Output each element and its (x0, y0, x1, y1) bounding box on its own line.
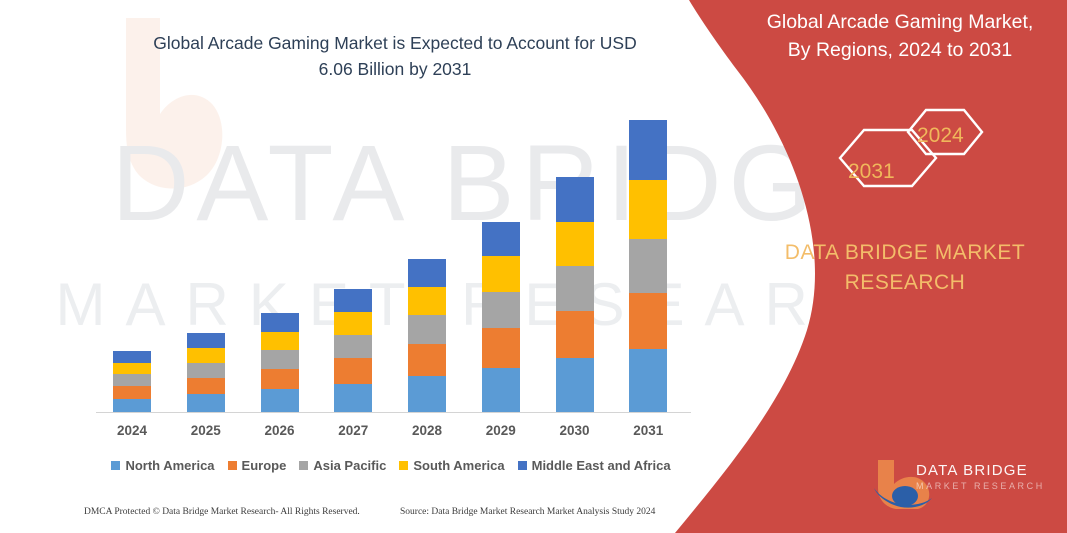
bar-segment (482, 328, 520, 368)
bar-segment (556, 222, 594, 266)
bar-segment (261, 332, 299, 350)
bar-segment (187, 378, 225, 394)
bar-segment (113, 386, 151, 399)
legend-swatch (111, 461, 120, 470)
legend-swatch (399, 461, 408, 470)
bar-segment (408, 344, 446, 376)
bar-column (317, 120, 389, 413)
bar-segment (113, 399, 151, 414)
bar-segment (482, 292, 520, 328)
bar-segment (556, 311, 594, 359)
footer-source: Source: Data Bridge Market Research Mark… (400, 507, 655, 517)
bar-segment (629, 293, 667, 349)
chart-legend: North AmericaEuropeAsia PacificSouth Ame… (96, 455, 686, 475)
x-axis-tick-label: 2024 (96, 423, 168, 438)
panel-title-line-1: Global Arcade Gaming Market, (745, 8, 1055, 36)
x-axis-tick-label: 2030 (539, 423, 611, 438)
bar-segment (113, 363, 151, 375)
corner-logo-line-1: DATA BRIDGE (916, 462, 1056, 479)
bar-segment (408, 376, 446, 413)
bar-segment (482, 368, 520, 413)
x-axis-tick-label: 2029 (465, 423, 537, 438)
brand-name-line-1: DATA BRIDGE MARKET (775, 238, 1035, 268)
bar-stack (187, 333, 225, 413)
bar-stack (113, 351, 151, 413)
bar-stack (556, 177, 594, 413)
bar-segment (187, 333, 225, 348)
legend-swatch (228, 461, 237, 470)
bar-segment (113, 374, 151, 386)
corner-logo-line-2: MARKET RESEARCH (916, 481, 1056, 491)
legend-label: Middle East and Africa (532, 458, 671, 473)
bar-segment (556, 266, 594, 310)
bar-segment (334, 289, 372, 312)
hexagon-label-2024: 2024 (917, 124, 964, 148)
legend-label: North America (125, 458, 214, 473)
bar-segment (556, 358, 594, 413)
bar-segment (187, 394, 225, 413)
x-axis-tick-label: 2028 (391, 423, 463, 438)
bar-stack (261, 313, 299, 413)
legend-label: Asia Pacific (313, 458, 386, 473)
x-axis-tick-label: 2031 (612, 423, 684, 438)
legend-item[interactable]: Europe (228, 458, 287, 473)
hexagon-group: 2031 2024 (820, 100, 1030, 230)
bar-segment (408, 315, 446, 344)
bar-segment (629, 239, 667, 293)
bar-segment (334, 384, 372, 413)
bar-column (96, 120, 168, 413)
bar-segment (556, 177, 594, 221)
legend-swatch (518, 461, 527, 470)
bar-segment (261, 350, 299, 369)
panel-title: Global Arcade Gaming Market, By Regions,… (745, 8, 1055, 65)
bar-segment (113, 351, 151, 363)
bar-segment (261, 389, 299, 413)
bar-column (465, 120, 537, 413)
bar-column (391, 120, 463, 413)
bar-segment (408, 287, 446, 316)
bar-segment (482, 256, 520, 292)
brand-name: DATA BRIDGE MARKET RESEARCH (775, 238, 1035, 299)
chart-title-line-1: Global Arcade Gaming Market is Expected … (85, 30, 705, 56)
bar-segment (629, 120, 667, 180)
bar-segment (334, 358, 372, 384)
x-axis-tick-label: 2027 (317, 423, 389, 438)
hexagon-label-2031: 2031 (848, 160, 895, 184)
legend-label: South America (413, 458, 504, 473)
corner-logo-text: DATA BRIDGE MARKET RESEARCH (916, 462, 1056, 491)
bar-segment (334, 312, 372, 335)
bar-segment (261, 369, 299, 389)
bar-segment (482, 222, 520, 257)
bar-segment (334, 335, 372, 358)
footer-copyright: DMCA Protected © Data Bridge Market Rese… (84, 507, 360, 517)
legend-item[interactable]: Asia Pacific (299, 458, 386, 473)
bar-segment (187, 363, 225, 378)
legend-item[interactable]: North America (111, 458, 214, 473)
x-axis-line (96, 412, 691, 413)
legend-item[interactable]: South America (399, 458, 504, 473)
bar-segment (629, 349, 667, 413)
bar-column (244, 120, 316, 413)
panel-title-line-2: By Regions, 2024 to 2031 (745, 36, 1055, 64)
infographic-page: DATA BRIDGE MARKET RESEARCH Global Arcad… (0, 0, 1067, 533)
bar-column (170, 120, 242, 413)
x-axis-tick-label: 2025 (170, 423, 242, 438)
bar-column (539, 120, 611, 413)
chart-plot-area (96, 120, 686, 413)
brand-name-line-2: RESEARCH (775, 268, 1035, 298)
bar-stack (334, 289, 372, 413)
bar-segment (408, 259, 446, 287)
chart-title: Global Arcade Gaming Market is Expected … (85, 30, 705, 83)
bar-segment (629, 180, 667, 239)
bar-stack (408, 259, 446, 413)
bar-segment (187, 348, 225, 363)
legend-label: Europe (242, 458, 287, 473)
legend-item[interactable]: Middle East and Africa (518, 458, 671, 473)
bar-column (612, 120, 684, 413)
x-axis-labels: 20242025202620272028202920302031 (96, 423, 686, 443)
bar-segment (261, 313, 299, 331)
bar-stack (482, 222, 520, 413)
bar-stack (629, 120, 667, 413)
chart-title-line-2: 6.06 Billion by 2031 (85, 56, 705, 82)
x-axis-tick-label: 2026 (244, 423, 316, 438)
legend-swatch (299, 461, 308, 470)
